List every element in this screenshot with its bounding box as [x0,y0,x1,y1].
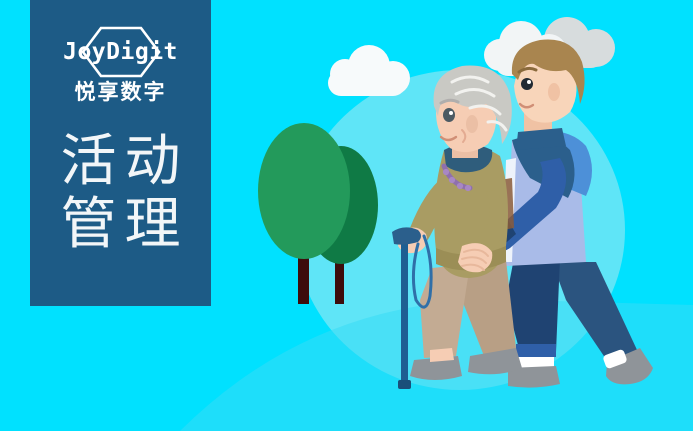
young-man-eye-highlight [527,80,531,84]
brand-panel: JoyDigit 悦享数字 活动 管理 [30,0,211,306]
logo: JoyDigit [46,26,196,78]
necklace-bead [449,177,455,183]
poster-canvas: JoyDigit 悦享数字 活动 管理 [0,0,693,431]
elderly-eye [443,108,455,122]
page-title: 活动 管理 [53,129,189,256]
elderly-ear [466,115,478,133]
necklace-bead [465,185,471,191]
necklace-bead [457,183,463,189]
elderly-eye-highlight [449,111,453,115]
company-name-cn: 悦享数字 [75,82,167,103]
young-man-ear [548,83,560,101]
cane-shaft [401,240,408,385]
young-man-eye [521,78,533,90]
young-man-front-cuff [516,344,556,357]
logo-wordmark: JoyDigit [46,26,196,78]
necklace-bead [443,169,449,175]
page-title-line2: 管理 [53,192,189,255]
page-title-line1: 活动 [53,129,189,192]
cane-tip [398,380,411,389]
elderly-front-ankle [430,348,454,362]
cane-handle [392,227,421,244]
